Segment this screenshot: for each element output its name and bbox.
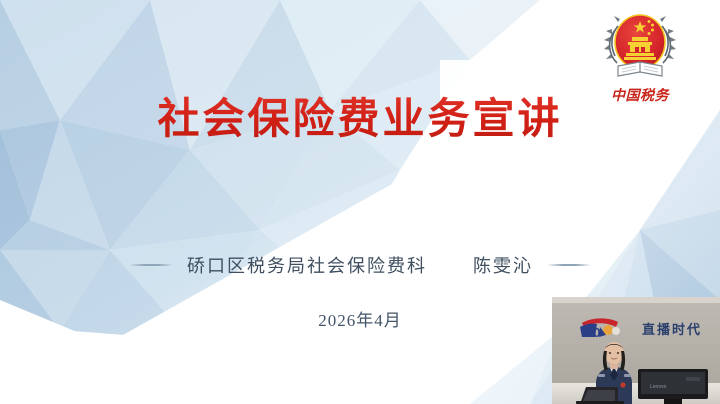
video-backdrop-slogan: 直播时代 — [642, 322, 702, 337]
svg-text:20: 20 — [586, 325, 600, 340]
slide-subtitle-row: 硚口区税务局社会保险费科 陈雯沁 — [0, 252, 720, 278]
monitor-device: Lenovo — [638, 369, 708, 404]
subtitle-rule-left — [129, 264, 173, 266]
national-emblem-icon — [602, 6, 678, 84]
presenter-video-frame: 20 直播时代 — [552, 297, 720, 404]
presenter-video-overlay[interactable]: 20 直播时代 — [552, 297, 720, 404]
svg-text:Lenovo: Lenovo — [650, 384, 667, 390]
presentation-slide: 中国税务 社会保险费业务宣讲 硚口区税务局社会保险费科 陈雯沁 2026年4月 — [0, 0, 720, 404]
subtitle-rule-right — [547, 264, 591, 266]
china-tax-bureau-emblem: 中国税务 — [602, 6, 678, 106]
subtitle-presenter-name: 陈雯沁 — [473, 252, 533, 278]
subtitle-organization: 硚口区税务局社会保险费科 — [187, 252, 427, 278]
slide-title: 社会保险费业务宣讲 — [0, 94, 720, 146]
